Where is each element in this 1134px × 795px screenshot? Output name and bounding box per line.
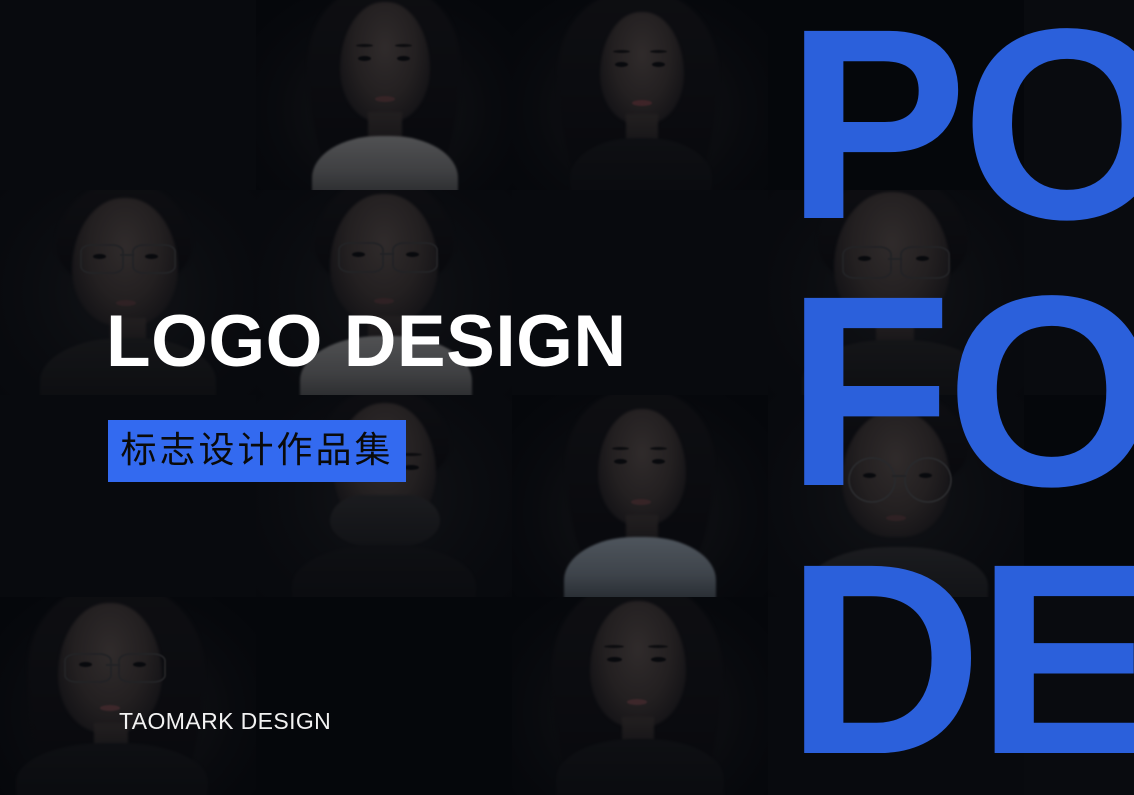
mouth-shape <box>375 96 395 102</box>
mosaic-tile-r1c4 <box>768 0 1024 190</box>
glasses-left-lens <box>338 242 384 273</box>
eyebrow-right <box>395 44 412 47</box>
eye-left <box>614 459 627 464</box>
eye-right <box>145 254 158 259</box>
glasses-right-lens <box>904 457 952 503</box>
eyebrow-right <box>650 50 667 53</box>
mouth-shape <box>886 515 906 521</box>
eyebrow-left <box>604 645 624 648</box>
empty-dark-panel <box>768 597 1024 795</box>
empty-dark-panel <box>1024 0 1134 190</box>
mouth-shape <box>882 304 902 310</box>
glasses-bridge <box>888 258 902 260</box>
glasses-left-lens <box>64 653 112 683</box>
eye-left <box>858 256 871 261</box>
mosaic-tile-r4c4 <box>768 597 1024 795</box>
empty-dark-panel <box>1024 597 1134 795</box>
eye-right <box>651 657 666 662</box>
portrait-photo <box>512 0 768 190</box>
head-shape <box>598 409 686 525</box>
subtitle-badge-label: 标志设计作品集 <box>120 433 393 469</box>
glasses-bridge <box>892 475 906 477</box>
mosaic-tile-r1c5 <box>1024 0 1134 190</box>
eye-right <box>652 62 665 67</box>
eye-left <box>352 252 365 257</box>
photo-mosaic-grid <box>0 0 1134 795</box>
glasses-right-lens <box>132 244 176 274</box>
subtitle-badge: 标志设计作品集 <box>108 420 406 482</box>
mosaic-tile-r2c4 <box>768 190 1024 395</box>
eye-right <box>406 252 419 257</box>
eye-left <box>358 56 371 61</box>
clothing-shape <box>802 340 990 395</box>
portrait-photo <box>512 597 768 795</box>
head-shape <box>590 601 686 727</box>
neck-shape <box>622 717 654 741</box>
glasses-right-lens <box>392 242 438 273</box>
eye-right <box>652 459 665 464</box>
mosaic-tile-r1c2 <box>256 0 512 190</box>
glasses-bridge <box>120 254 134 256</box>
clothing-shape <box>292 545 476 597</box>
mosaic-tile-r3c3 <box>512 395 768 597</box>
clothing-shape <box>808 547 988 597</box>
eyebrow-right <box>650 447 667 450</box>
mosaic-tile-r3c5 <box>1024 395 1134 597</box>
portrait-photo <box>768 395 1024 597</box>
brand-name: TAOMARK DESIGN <box>119 708 331 735</box>
empty-dark-panel <box>1024 190 1134 395</box>
mouth-shape <box>631 499 651 505</box>
head-shape <box>600 12 684 124</box>
glasses-bridge <box>380 253 394 255</box>
hand-shape <box>330 495 440 547</box>
eyebrow-right <box>648 645 668 648</box>
mouth-shape <box>100 705 120 711</box>
portrait-photo <box>512 395 768 597</box>
portrait-photo <box>768 190 1024 395</box>
eye-right <box>397 56 410 61</box>
eye-right <box>919 473 932 478</box>
portrait-photo <box>0 597 256 795</box>
eyebrow-left <box>356 44 373 47</box>
eyebrow-left <box>613 50 630 53</box>
empty-dark-panel <box>0 0 256 190</box>
glasses-right-lens <box>118 653 166 683</box>
mouth-shape <box>632 100 652 106</box>
mosaic-tile-r2c5 <box>1024 190 1134 395</box>
mosaic-tile-r3c4 <box>768 395 1024 597</box>
glasses-right-lens <box>900 246 950 279</box>
page-title: LOGO DESIGN <box>106 305 627 378</box>
eyebrow-left <box>612 447 629 450</box>
empty-dark-panel <box>768 0 1024 190</box>
glasses-left-lens <box>80 244 124 274</box>
eye-left <box>79 662 92 667</box>
glasses-left-lens <box>842 246 892 279</box>
mosaic-tile-r1c1 <box>0 0 256 190</box>
eye-left <box>607 657 622 662</box>
glasses-left-lens <box>848 457 896 503</box>
poster-canvas: PO FO DE LOGO DESIGN 标志设计作品集 TAOMARK DES… <box>0 0 1134 795</box>
glasses-bridge <box>106 664 120 666</box>
mosaic-tile-r4c5 <box>1024 597 1134 795</box>
empty-dark-panel <box>1024 395 1134 597</box>
portrait-photo <box>256 0 512 190</box>
eye-left <box>863 473 876 478</box>
eye-left <box>93 254 106 259</box>
mosaic-tile-r4c1 <box>0 597 256 795</box>
eye-right <box>133 662 146 667</box>
eye-left <box>615 62 628 67</box>
mosaic-tile-r1c3 <box>512 0 768 190</box>
head-shape <box>340 2 430 122</box>
mouth-shape <box>627 699 647 705</box>
empty-dark-panel <box>256 597 512 795</box>
eye-right <box>916 256 929 261</box>
mosaic-tile-r4c3 <box>512 597 768 795</box>
mosaic-tile-r4c2 <box>256 597 512 795</box>
